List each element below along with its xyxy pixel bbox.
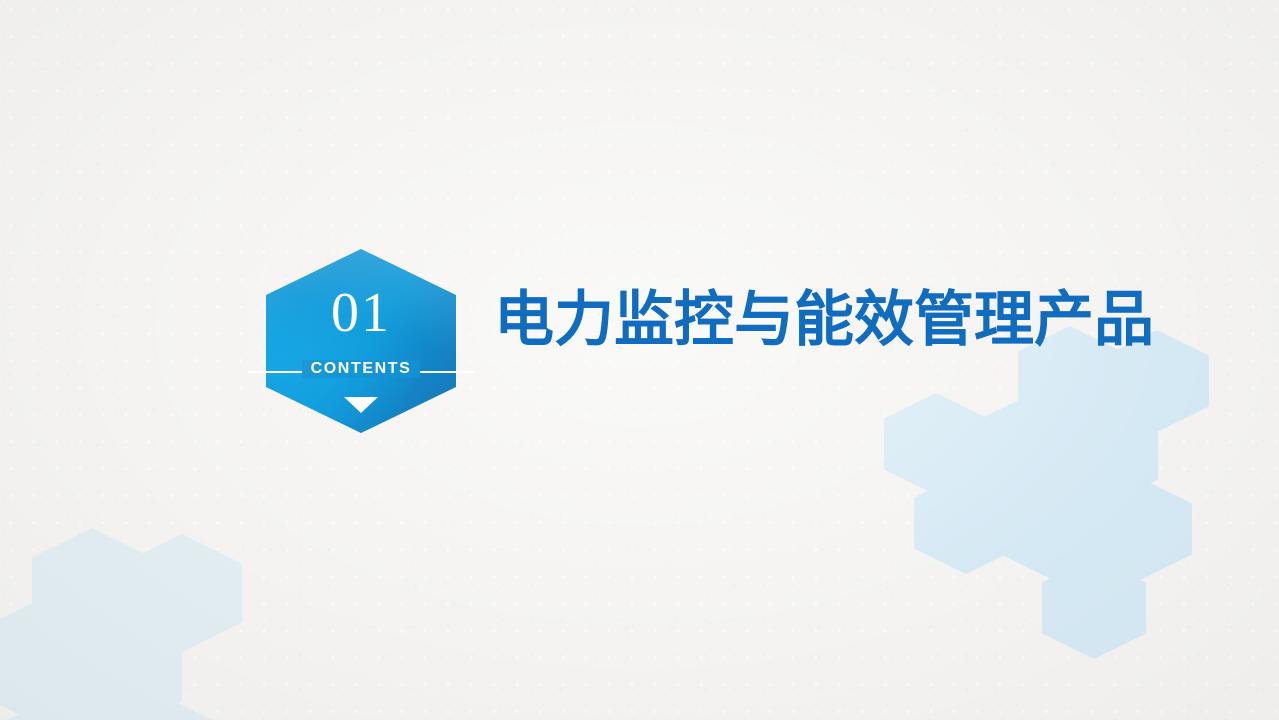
paper-texture-overlay (0, 0, 1279, 720)
presentation-slide: 01 CONTENTS 电力监控与能效管理产品 (0, 0, 1279, 720)
hexagon-decoration (62, 613, 182, 720)
hexagon-decoration (100, 694, 220, 720)
section-number-badge[interactable]: 01 CONTENTS (266, 249, 456, 433)
hexagon-decoration (1042, 557, 1146, 659)
badge-contents-label: CONTENTS (302, 360, 421, 378)
honeycomb-cluster-left (0, 0, 1279, 720)
honeycomb-cluster-right (0, 0, 1279, 720)
hexagon-decoration (32, 528, 152, 646)
hexagon-decoration (8, 690, 128, 720)
hexagon-decoration (122, 534, 242, 652)
down-caret-icon (344, 397, 378, 413)
hexagon-decoration (0, 603, 92, 720)
hexagon-decoration (1001, 478, 1105, 580)
hexagon-decoration (914, 472, 1018, 574)
vignette-overlay (0, 0, 1279, 720)
hexagon-decoration (1054, 403, 1158, 505)
hexagon-decoration (1088, 478, 1192, 580)
section-number: 01 (266, 285, 456, 341)
badge-contents-row: CONTENTS (266, 360, 456, 378)
hexagon-decoration (967, 400, 1071, 502)
hexagon-decoration (884, 393, 988, 495)
page-title: 电力监控与能效管理产品 (494, 288, 1154, 353)
